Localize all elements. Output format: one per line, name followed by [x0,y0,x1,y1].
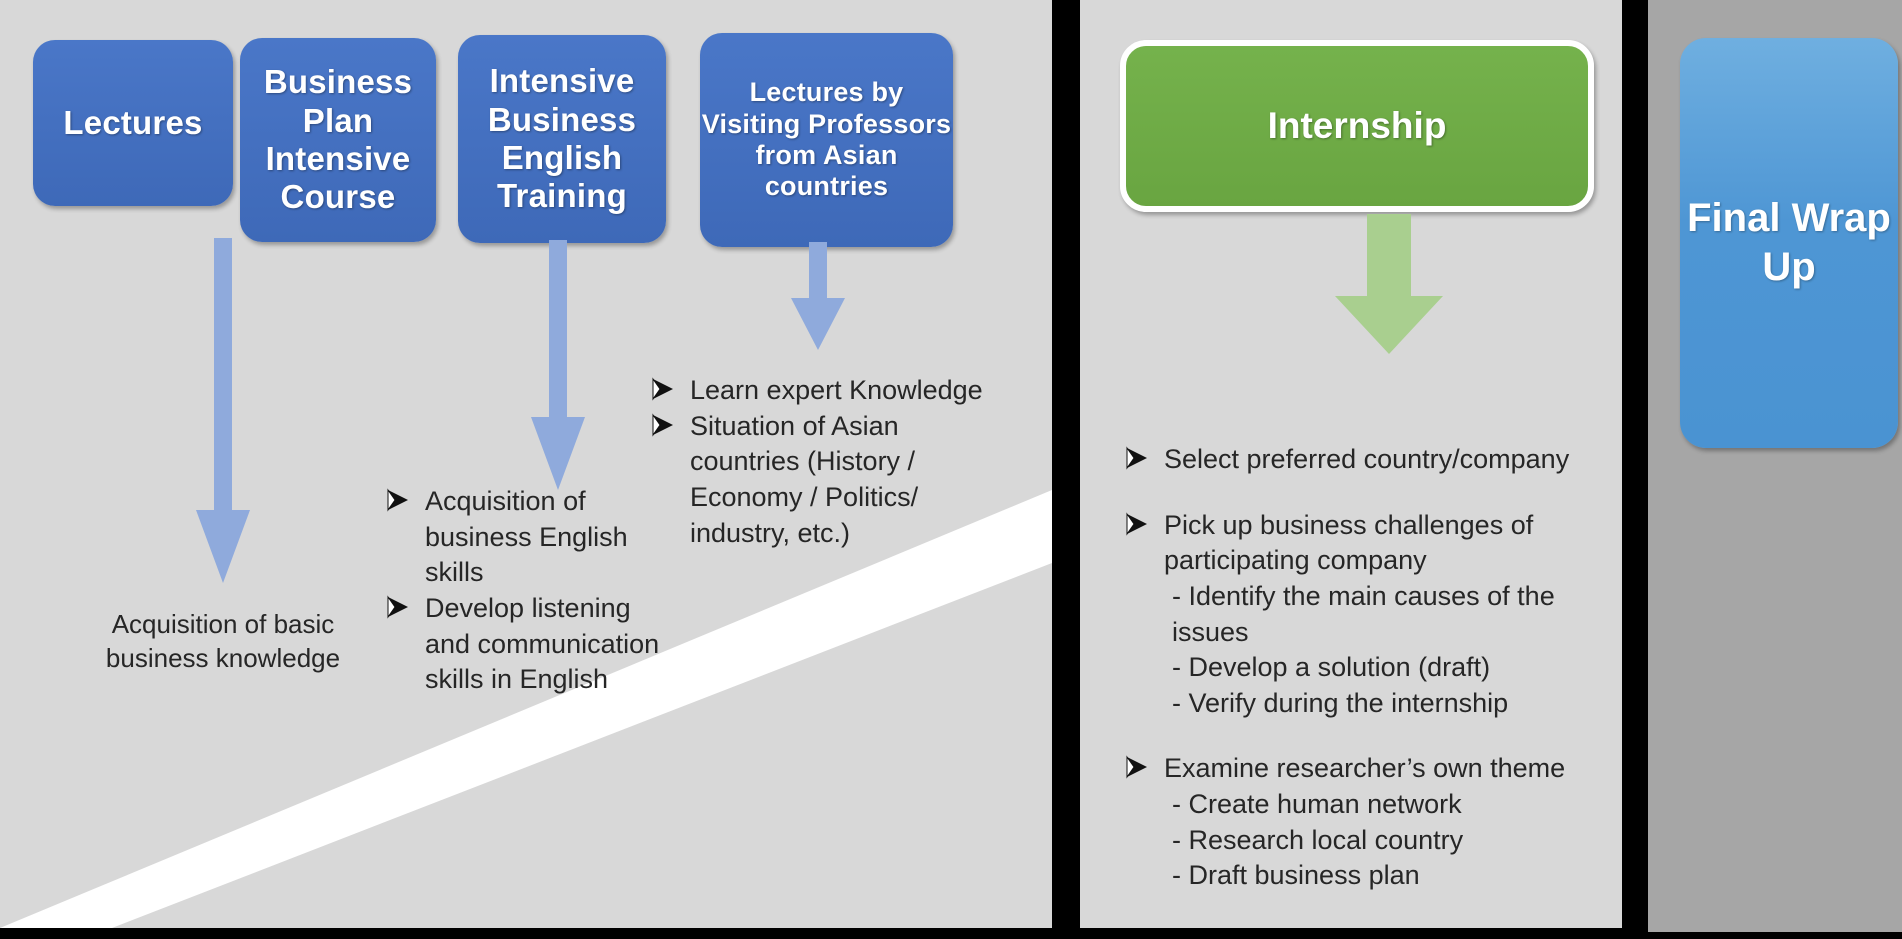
list-item: Situation of Asian countries (History / … [650,409,950,552]
list-item: Examine researcher’s own theme [1124,751,1594,787]
list-item-text: Select preferred country/company [1164,442,1594,478]
list-item-text: Situation of Asian countries (History / … [690,409,950,552]
list-item: Select preferred country/company [1124,442,1594,478]
box-business-plan-intensive-course-label: Business Plan Intensive Course [240,63,436,216]
internship-activities-list: Select preferred country/company Pick up… [1124,442,1594,894]
diagram-canvas: Lectures Business Plan Intensive Course … [0,0,1902,939]
arrowhead-bullet-icon [385,592,425,622]
box-final-wrap-up-label: Final Wrap Up [1680,194,1898,292]
outcome-visiting-professors-list: Learn expert Knowledge Situation of Asia… [650,373,950,551]
stage-one-panel: Lectures Business Plan Intensive Course … [0,0,1052,928]
list-item-text: Develop listening and communication skil… [425,591,715,698]
box-lectures-label: Lectures [63,104,202,142]
arrow-down-visiting-professors [791,242,845,350]
box-intensive-business-english-training-label: Intensive Business English Training [458,62,666,215]
list-item-subtext: - Create human network - Research local … [1124,787,1594,894]
box-final-wrap-up[interactable]: Final Wrap Up [1680,38,1898,448]
list-item-text: Pick up business challenges of participa… [1164,508,1594,579]
outcome-lectures-text: Acquisition of basic business knowledge [78,608,368,676]
list-item-subtext: - Identify the main causes of the issues… [1124,579,1594,722]
box-intensive-business-english-training[interactable]: Intensive Business English Training [458,35,666,243]
list-item-text: Examine researcher’s own theme [1164,751,1594,787]
spacer [1124,721,1594,751]
box-internship[interactable]: Internship [1120,40,1594,212]
list-item: Pick up business challenges of participa… [1124,508,1594,579]
arrow-down-internship [1335,214,1443,354]
arrowhead-bullet-icon [385,485,425,515]
stage-two-panel: Internship Select preferred country/comp… [1080,0,1622,928]
list-item: Learn expert Knowledge [650,373,950,409]
arrow-down-business-english [531,240,585,490]
list-item: Develop listening and communication skil… [385,591,715,698]
arrowhead-bullet-icon [1124,752,1164,782]
stage-three-panel: Final Wrap Up [1648,0,1902,932]
box-business-plan-intensive-course[interactable]: Business Plan Intensive Course [240,38,436,242]
arrowhead-bullet-icon [650,410,690,440]
list-item-text: Learn expert Knowledge [690,373,983,409]
box-lectures-by-visiting-professors[interactable]: Lectures by Visiting Professors from Asi… [700,33,953,247]
arrowhead-bullet-icon [1124,443,1164,473]
arrow-down-lectures [196,238,250,583]
box-internship-label: Internship [1268,105,1447,148]
arrowhead-bullet-icon [650,374,690,404]
box-lectures[interactable]: Lectures [33,40,233,206]
arrowhead-bullet-icon [1124,509,1164,539]
box-lectures-by-visiting-professors-label: Lectures by Visiting Professors from Asi… [700,77,953,202]
spacer [1124,478,1594,508]
